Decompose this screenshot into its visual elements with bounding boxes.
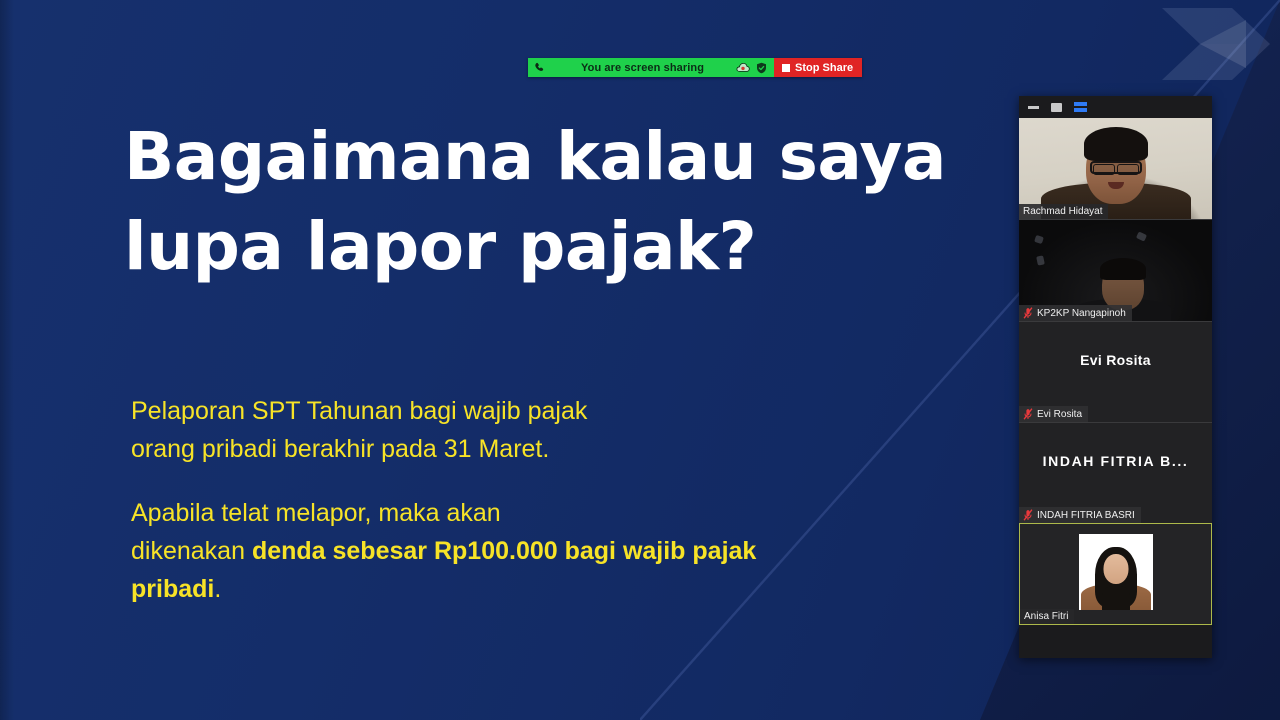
participant-tile[interactable]: KP2KP Nangapinoh [1019,220,1212,321]
body-paragraph-2-line-2: dikenakan denda sebesar Rp100.000 bagi w… [131,532,811,608]
slide-body-text: Pelaporan SPT Tahunan bagi wajib pajak o… [131,392,811,608]
gallery-view-button[interactable] [1099,101,1112,114]
participant-name-label: Evi Rosita [1037,409,1082,420]
cloud-recording-icon[interactable] [736,62,750,73]
participant-name-badge: KP2KP Nangapinoh [1019,305,1132,321]
body-period: . [214,575,221,603]
microphone-muted-icon [1023,509,1033,521]
participant-profile-photo [1079,534,1153,610]
participant-name-badge: Evi Rosita [1019,406,1088,422]
stop-square-icon [782,64,790,72]
slide-title: Bagaimana kalau saya lupa lapor pajak? [124,112,954,292]
participant-name-badge: Anisa Fitri [1020,609,1074,624]
stop-share-button[interactable]: Stop Share [774,58,862,77]
participant-name-label: INDAH FITRIA BASRI [1037,510,1135,521]
participant-tile-active-speaker[interactable]: Anisa Fitri [1019,523,1212,625]
participant-display-name: INDAH FITRIA B... [1019,453,1212,469]
body-lead-text: dikenakan [131,537,252,565]
participant-name-badge: INDAH FITRIA BASRI [1019,507,1141,523]
screen-share-status-bar: You are screen sharing Stop Share [528,58,862,77]
stop-share-label: Stop Share [795,62,853,74]
participant-tile[interactable]: Rachmad Hidayat [1019,118,1212,219]
participant-tile[interactable]: INDAH FITRIA B... INDAH FITRIA BASRI [1019,423,1212,523]
participant-name-label: KP2KP Nangapinoh [1037,308,1126,319]
sharing-status-pill: You are screen sharing [528,58,774,77]
body-paragraph-1-line-2: orang pribadi berakhir pada 31 Maret. [131,430,811,468]
microphone-muted-icon [1023,307,1033,319]
screen-share-canvas: Bagaimana kalau saya lupa lapor pajak? P… [0,0,1280,720]
participant-name-label: Anisa Fitri [1024,611,1068,622]
body-paragraph-2-line-1: Apabila telat melapor, maka akan [131,494,811,532]
arrow-brand-logo [1154,2,1270,86]
zoom-window-titlebar [1019,96,1212,118]
participant-tile[interactable]: Evi Rosita Evi Rosita [1019,322,1212,422]
participant-name-badge: Rachmad Hidayat [1019,204,1108,219]
security-shield-icon[interactable] [756,62,767,74]
participant-display-name: Evi Rosita [1019,352,1212,368]
body-paragraph-1-line-1: Pelaporan SPT Tahunan bagi wajib pajak [131,392,811,430]
maximize-button[interactable] [1051,103,1062,112]
participant-tile-list: Rachmad Hidayat [1019,118,1212,625]
microphone-muted-icon [1023,408,1033,420]
speaker-view-button[interactable] [1074,102,1087,112]
phone-connection-icon [534,62,545,73]
sharing-status-text: You are screen sharing [551,62,730,74]
participant-name-label: Rachmad Hidayat [1023,206,1102,217]
paragraph-spacer [131,468,811,494]
zoom-participant-panel[interactable]: Rachmad Hidayat [1019,96,1212,658]
left-edge-shadow [0,0,14,720]
minimize-button[interactable] [1028,106,1039,109]
